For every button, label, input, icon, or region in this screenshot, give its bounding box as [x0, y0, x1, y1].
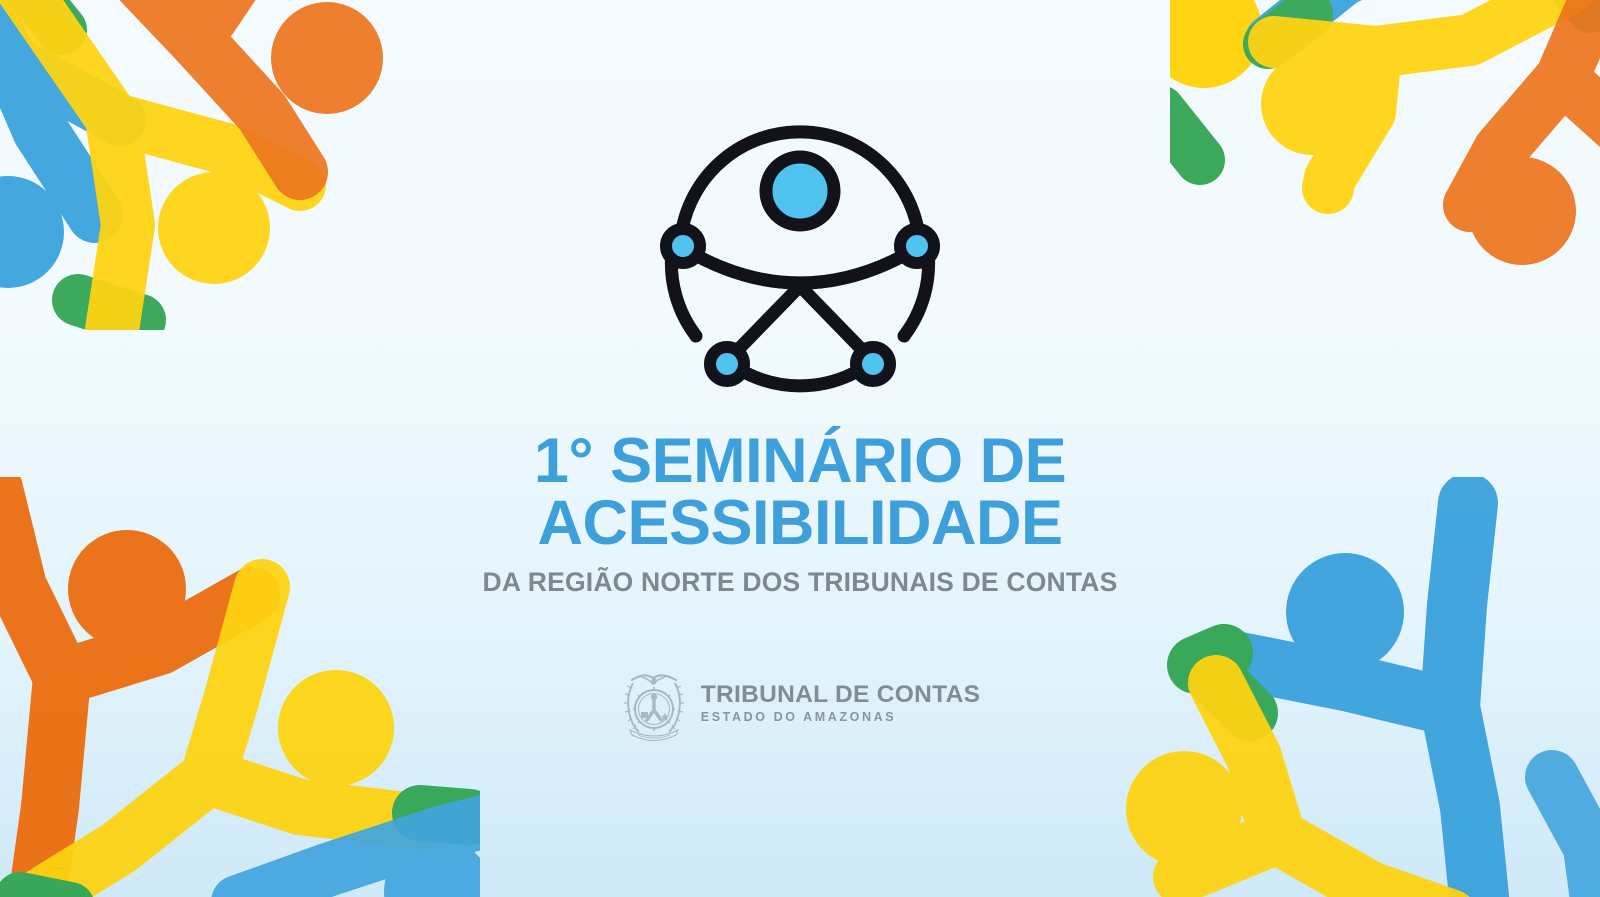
figure-blue [238, 819, 480, 897]
icon-node-bottom-right [856, 347, 890, 381]
icon-arms [683, 248, 917, 283]
figure-blue-edge [1552, 777, 1598, 897]
icon-node-bottom-left [710, 347, 744, 381]
title-line-2: ACESSIBILIDADE [0, 493, 1600, 555]
poster-canvas: 1° SEMINÁRIO DE ACESSIBILIDADE DA REGIÃO… [0, 0, 1600, 897]
organization-logo: TRIBUNAL DE CONTAS ESTADO DO AMAZONAS [620, 664, 980, 742]
icon-head-node [766, 157, 834, 225]
figure-green [20, 813, 470, 897]
page-subtitle: DA REGIÃO NORTE DOS TRIBUNAIS DE CONTAS [0, 567, 1600, 598]
icon-node-right [900, 229, 934, 263]
icon-node-left [666, 229, 700, 263]
accessibility-network-icon [650, 118, 950, 393]
organization-name: TRIBUNAL DE CONTAS [701, 682, 980, 708]
tce-amazonas-coat-of-arms-icon [620, 664, 688, 742]
organization-state: ESTADO DO AMAZONAS [701, 710, 980, 725]
icon-arc-bottom [748, 374, 852, 386]
poster-content: 1° SEMINÁRIO DE ACESSIBILIDADE DA REGIÃO… [0, 0, 1600, 742]
page-title: 1° SEMINÁRIO DE ACESSIBILIDADE DA REGIÃO… [0, 431, 1600, 598]
organization-logo-text: TRIBUNAL DE CONTAS ESTADO DO AMAZONAS [701, 682, 980, 726]
title-line-1: 1° SEMINÁRIO DE [0, 431, 1600, 493]
